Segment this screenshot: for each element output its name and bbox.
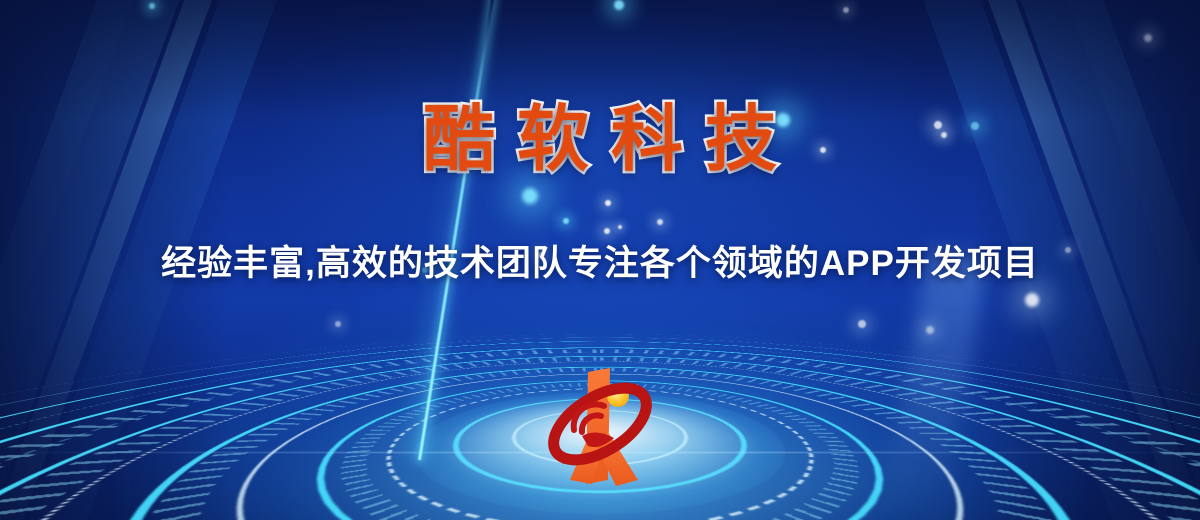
promo-banner: 酷软科技 经验丰富,高效的技术团队专注各个领域的APP开发项目 <box>0 0 1200 520</box>
page-subtitle: 经验丰富,高效的技术团队专注各个领域的APP开发项目 <box>0 243 1200 285</box>
page-title: 酷软科技 <box>0 100 1200 181</box>
text-layer: 酷软科技 经验丰富,高效的技术团队专注各个领域的APP开发项目 <box>0 0 1200 520</box>
